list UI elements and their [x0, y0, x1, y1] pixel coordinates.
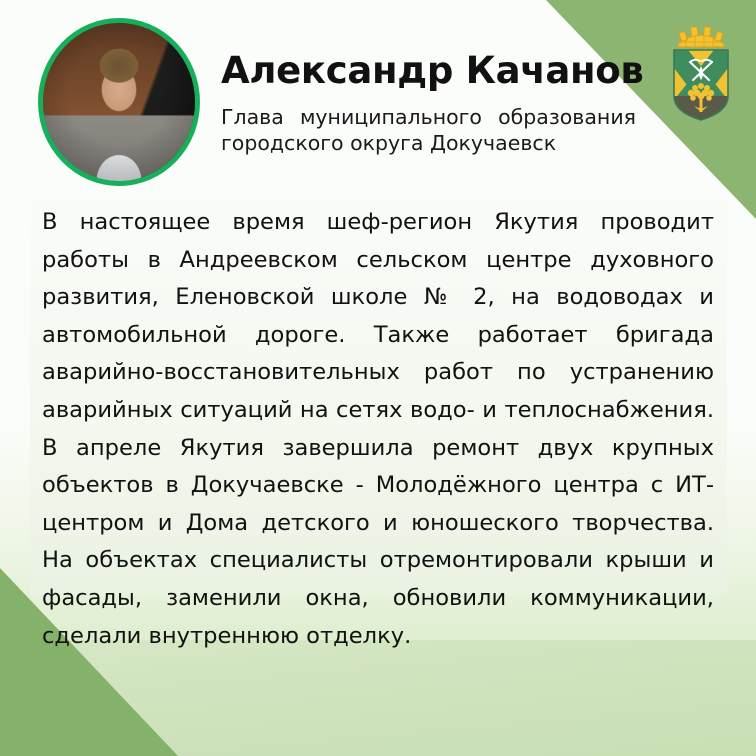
slide-canvas: Александр Качанов Глава муниципального о… — [0, 0, 756, 756]
role-line-2: городского округа Докучаевск — [221, 130, 651, 156]
role-line-1: Глава муниципального образования — [221, 104, 636, 130]
page-title: Александр Качанов — [221, 49, 644, 92]
dokuchaevsk-coat-of-arms-icon — [664, 14, 738, 122]
role-subtitle: Глава муниципального образования городск… — [221, 104, 651, 156]
body-paragraph: В настоящее время шеф-регион Якутия пров… — [42, 204, 714, 655]
content-card: В настоящее время шеф-регион Якутия пров… — [30, 195, 727, 595]
portrait-vignette — [43, 23, 195, 181]
avatar — [38, 18, 200, 186]
